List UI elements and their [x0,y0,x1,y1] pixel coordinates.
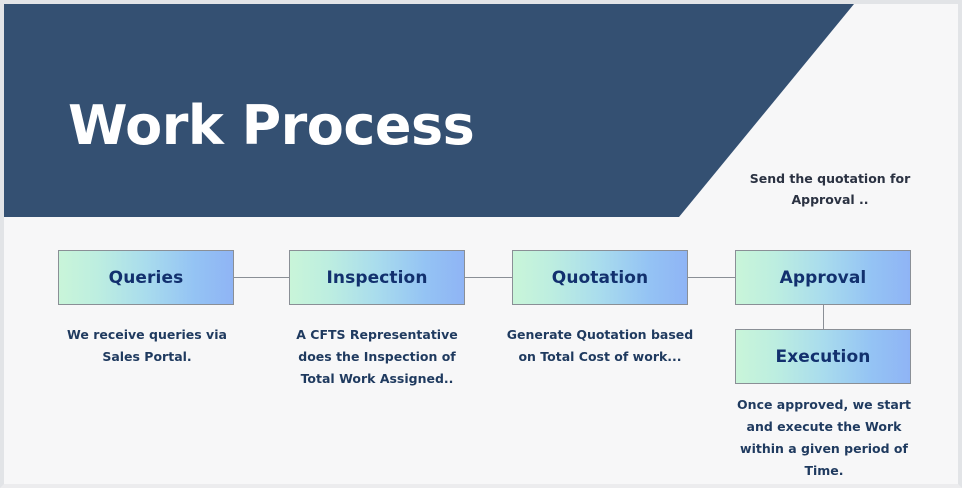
process-box-label: Quotation [552,268,648,288]
process-box-label: Approval [780,268,867,288]
connector-inspection-quotation [465,277,513,278]
annotation-send-quotation: Send the quotation for Approval .. [741,169,919,210]
process-box-execution[interactable]: Execution [735,329,911,384]
process-box-label: Execution [776,347,871,367]
work-process-slide: Work Process Send the quotation for Appr… [0,0,962,488]
description-queries: We receive queries via Sales Portal. [52,324,242,368]
description-execution: Once approved, we start and execute the … [735,394,913,482]
process-box-label: Inspection [326,268,427,288]
description-quotation: Generate Quotation based on Total Cost o… [504,324,696,368]
process-box-quotation[interactable]: Quotation [512,250,688,305]
process-box-inspection[interactable]: Inspection [289,250,465,305]
process-box-queries[interactable]: Queries [58,250,234,305]
process-box-label: Queries [109,268,184,288]
connector-quotation-approval [688,277,736,278]
page-title: Work Process [68,94,474,157]
connector-queries-inspection [234,277,290,278]
process-box-approval[interactable]: Approval [735,250,911,305]
connector-approval-execution [823,305,824,330]
description-inspection: A CFTS Representative does the Inspectio… [281,324,473,390]
